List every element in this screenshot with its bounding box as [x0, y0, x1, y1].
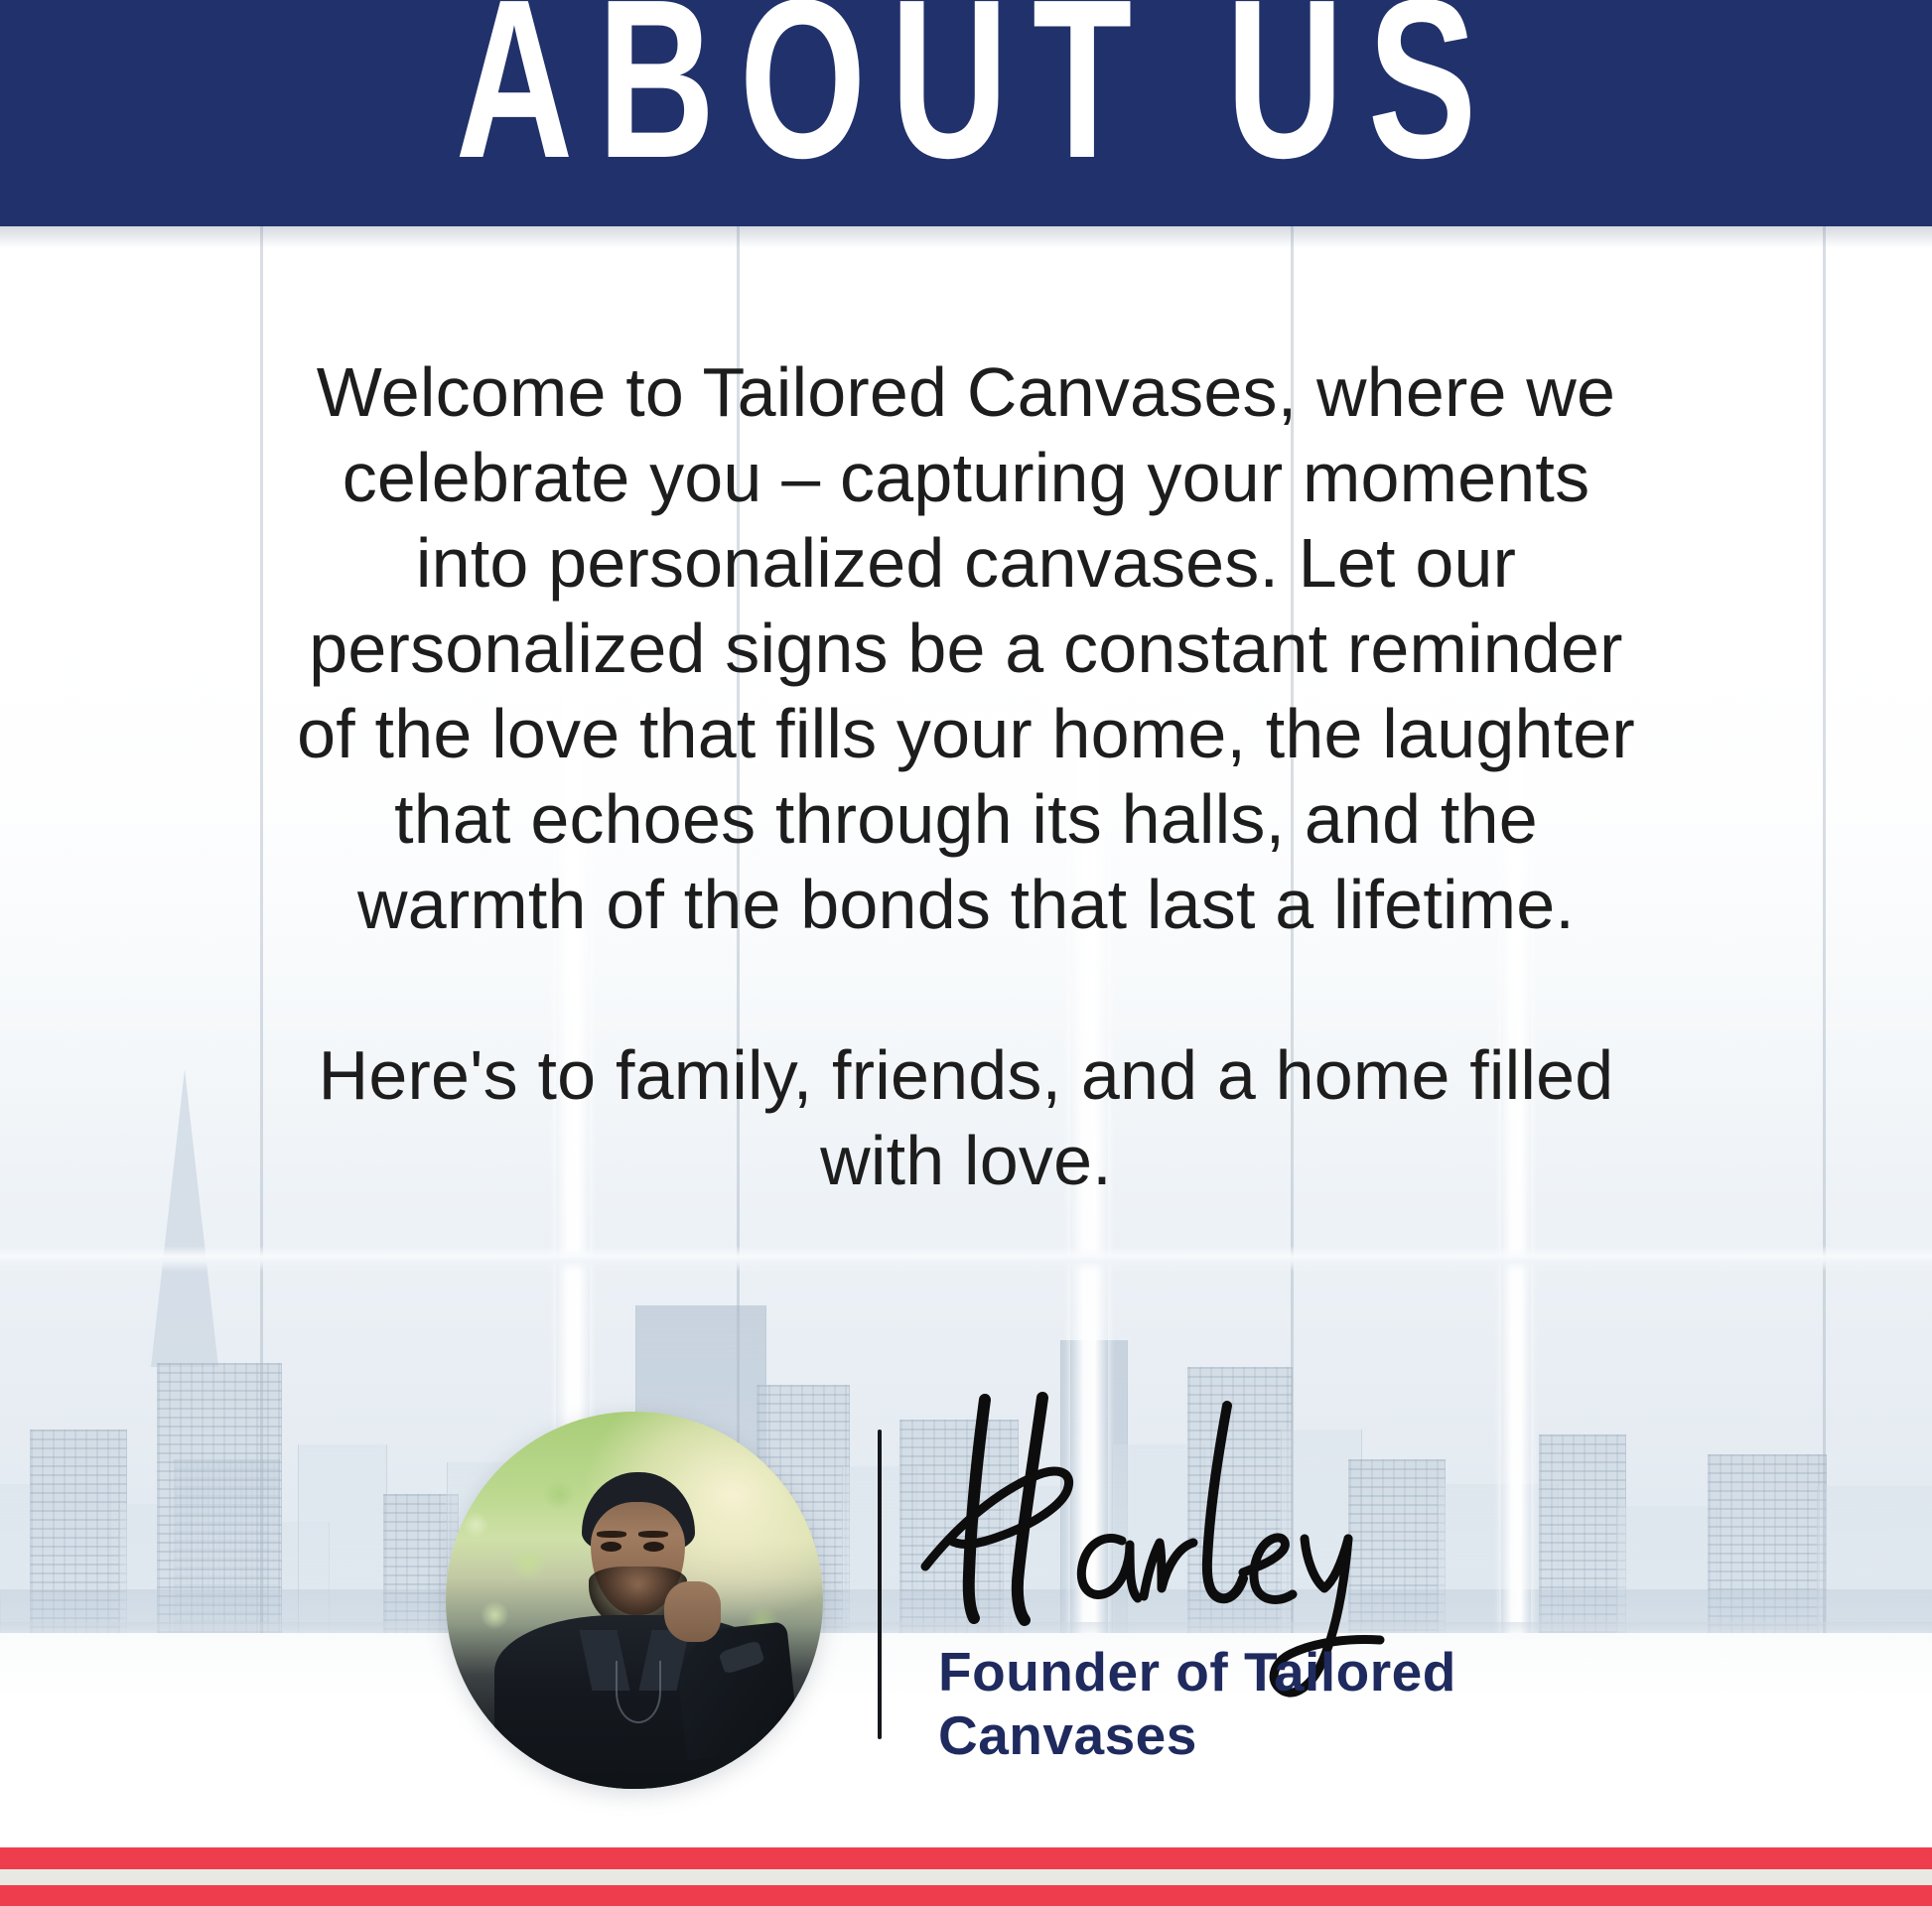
founder-title-line-1: Founder of Tailored — [938, 1640, 1574, 1703]
about-us-poster: ABOUT US Welcome to Tailored Canvases, w… — [0, 0, 1932, 1906]
avatar-brow-left — [597, 1531, 626, 1538]
avatar-hand — [664, 1581, 721, 1642]
paragraph-one-line-2: celebrate you – capturing your moments — [211, 435, 1721, 520]
header-shadow — [0, 226, 1932, 248]
avatar-photo — [446, 1412, 823, 1789]
footer-stripe-bottom — [0, 1885, 1932, 1906]
paragraph-one-line-7: warmth of the bonds that last a lifetime… — [211, 862, 1721, 947]
paragraph-one-line-3: into personalized canvases. Let our — [211, 520, 1721, 606]
avatar-necklace — [616, 1661, 661, 1723]
founder-title-line-2: Canvases — [938, 1703, 1574, 1767]
paragraph-one-line-5: of the love that fills your home, the la… — [211, 691, 1721, 776]
paragraph-one-line-4: personalized signs be a constant reminde… — [211, 606, 1721, 691]
avatar-eye-right — [643, 1542, 664, 1552]
avatar-eye-left — [601, 1542, 621, 1552]
page-title: ABOUT US — [270, 0, 1661, 193]
avatar — [446, 1412, 823, 1789]
founder-title: Founder of Tailored Canvases — [938, 1640, 1574, 1767]
paragraph-two-line-2: with love. — [211, 1118, 1721, 1203]
footer-stripe-gap — [0, 1869, 1932, 1885]
avatar-brow-right — [638, 1531, 668, 1538]
paragraph-one-line-1: Welcome to Tailored Canvases, where we — [211, 349, 1721, 435]
footer-stripe-top — [0, 1847, 1932, 1869]
paragraph-spacer — [211, 947, 1721, 1032]
header-banner: ABOUT US — [0, 0, 1932, 226]
about-us-body-copy: Welcome to Tailored Canvases, where we c… — [211, 349, 1721, 1203]
paragraph-one-line-6: that echoes through its halls, and the — [211, 776, 1721, 862]
paragraph-two-line-1: Here's to family, friends, and a home fi… — [211, 1032, 1721, 1118]
